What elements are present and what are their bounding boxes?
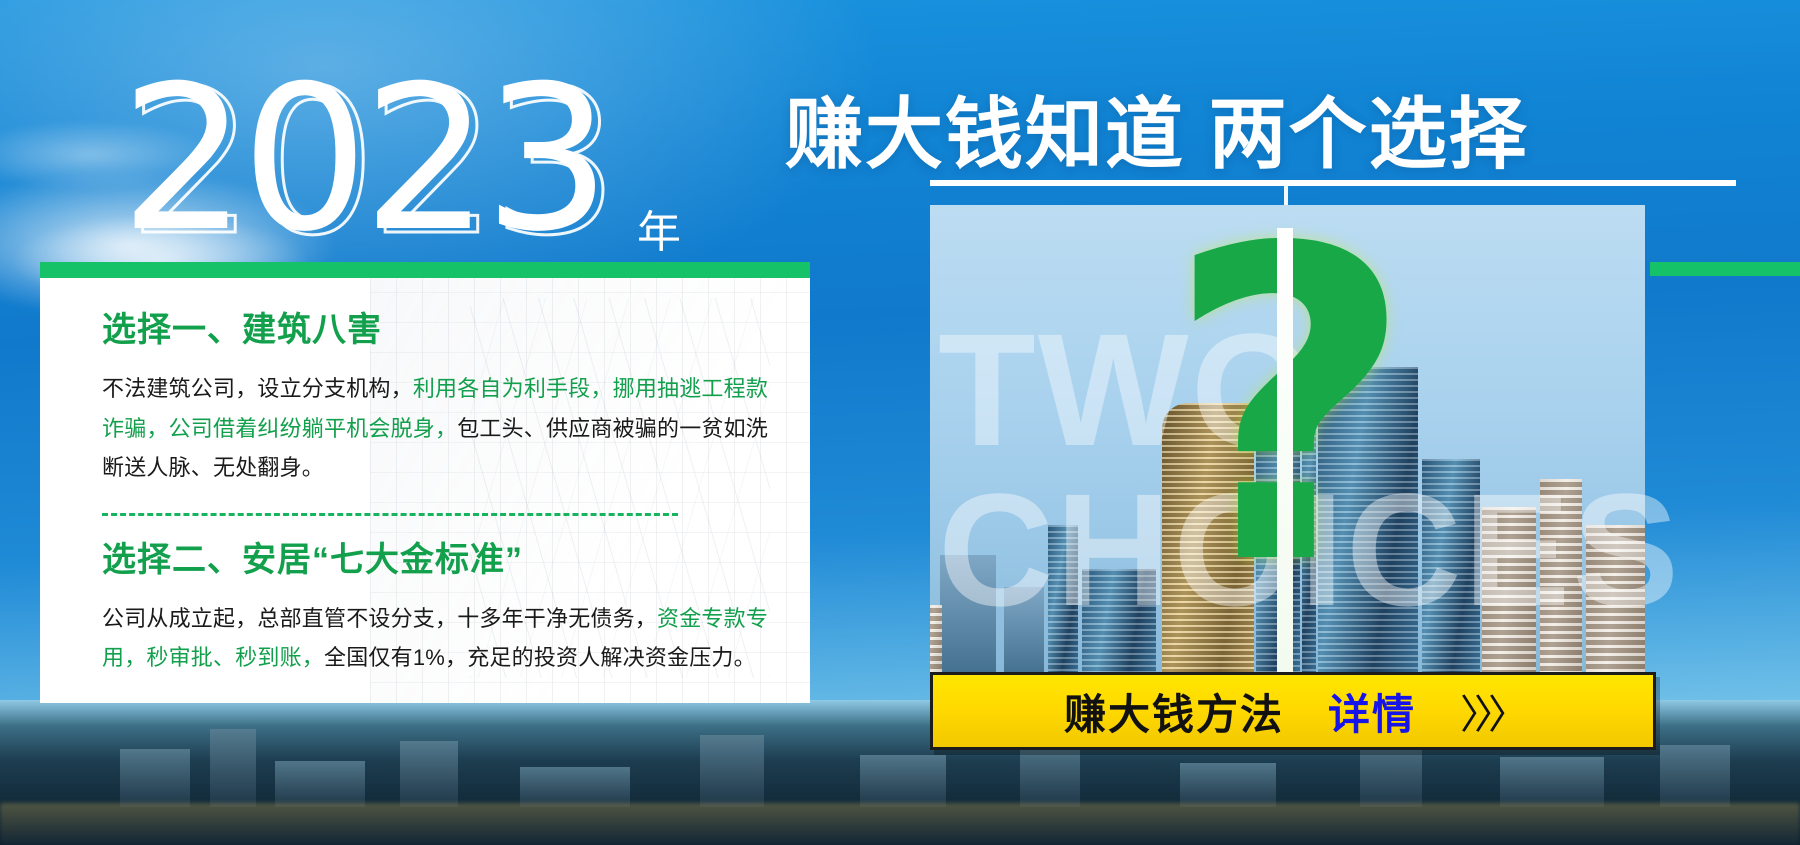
banner-stage: 2023 2023 年 赚大钱知道 两个选择 TWO CHOICES ? 选择一…: [0, 0, 1800, 845]
section-body-1: 不法建筑公司，设立分支机构，利用各自为利手段，挪用抽逃工程款诈骗，公司借着纠纷躺…: [102, 369, 770, 486]
cta-button[interactable]: 赚大钱方法 详情 〉〉〉: [930, 672, 1656, 750]
cta-main-label: 赚大钱方法: [1064, 681, 1284, 742]
page-title: 赚大钱知道 两个选择: [785, 72, 1529, 184]
question-mark-slit: [1277, 228, 1293, 698]
section-2-text-a: 公司从成立起，总部直管不设分支，十多年干净无债务，: [102, 606, 657, 631]
section-1-text-a: 不法建筑公司，设立分支机构，: [102, 376, 413, 401]
year-outline: 2023: [128, 64, 613, 264]
section-2-text-c: 全国仅有1%，充足的投资人解决资金压力。: [324, 645, 756, 670]
cta-sub-label: 详情: [1328, 681, 1416, 742]
card-top-accent: [40, 262, 810, 278]
chevron-right-icon: 〉〉〉: [1460, 682, 1522, 740]
content-card: 选择一、建筑八害 不法建筑公司，设立分支机构，利用各自为利手段，挪用抽逃工程款诈…: [40, 278, 810, 703]
year-suffix-label: 年: [637, 196, 681, 260]
green-accent-bar: [1650, 262, 1800, 276]
section-divider: [102, 513, 678, 516]
section-title-1: 选择一、建筑八害: [102, 312, 770, 349]
section-title-2: 选择二、安居“七大金标准”: [102, 542, 770, 579]
section-body-2: 公司从成立起，总部直管不设分支，十多年干净无债务，资金专款专用，秒审批、秒到账，…: [102, 599, 770, 677]
